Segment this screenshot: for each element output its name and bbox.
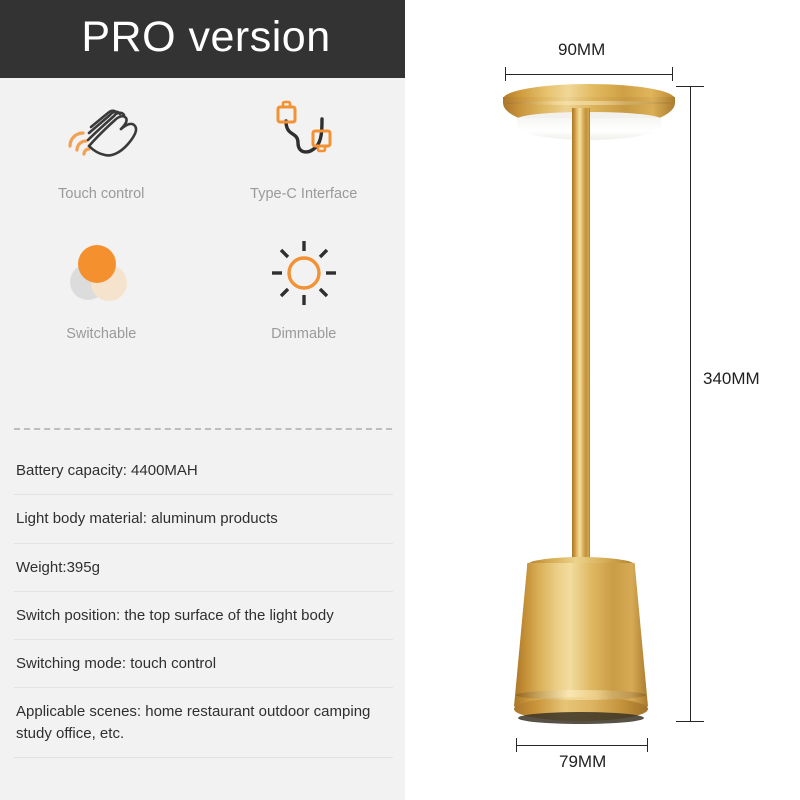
spec-row: Battery capacity: 4400MAH [14, 452, 393, 495]
dimension-line-top-width [505, 74, 673, 75]
usb-type-c-cable-icon [264, 92, 344, 174]
lamp-base-groove [516, 690, 646, 700]
spec-row: Switching mode: touch control [14, 640, 393, 688]
dashed-divider [14, 428, 392, 430]
spec-list: Battery capacity: 4400MAH Light body mat… [0, 452, 405, 758]
spec-row: Applicable scenes: home restaurant outdo… [14, 688, 393, 758]
feature-switchable: Switchable [0, 232, 203, 372]
spec-row: Switch position: the top surface of the … [14, 592, 393, 640]
feature-touch-control: Touch control [0, 92, 203, 232]
info-panel: PRO version [0, 0, 405, 800]
dimension-tick-left [516, 738, 517, 752]
feature-label: Switchable [66, 326, 136, 342]
lamp-base-foot [518, 712, 644, 724]
feature-label: Type-C Interface [250, 186, 357, 202]
page-title: PRO version [81, 16, 330, 62]
dimension-line-base-width [516, 745, 648, 746]
dimension-tick-right [647, 738, 648, 752]
dimension-label-top-width: 90MM [558, 40, 605, 60]
dimension-label-height: 340MM [703, 369, 760, 389]
spec-row: Light body material: aluminum products [14, 495, 393, 543]
lamp-shade-rim [506, 101, 672, 105]
three-color-circles-icon [63, 232, 139, 314]
dimension-tick-left [505, 67, 506, 81]
feature-label: Touch control [58, 186, 144, 202]
dimension-label-base-width: 79MM [559, 752, 606, 772]
dimension-line-height [690, 86, 691, 722]
dimension-tick-bottom [676, 721, 704, 722]
dimension-tick-top [676, 86, 704, 87]
dimension-tick-right [672, 67, 673, 81]
feature-label: Dimmable [271, 326, 336, 342]
spec-row: Weight:395g [14, 544, 393, 592]
feature-grid: Touch control Type-C Interface [0, 92, 405, 372]
header-band: PRO version [0, 0, 412, 78]
feature-dimmable: Dimmable [203, 232, 406, 372]
feature-type-c-interface: Type-C Interface [203, 92, 406, 232]
hand-touch-icon [58, 92, 144, 174]
lamp-stem [572, 108, 590, 578]
product-infographic: PRO version [0, 0, 800, 800]
sun-brightness-icon [266, 232, 342, 314]
